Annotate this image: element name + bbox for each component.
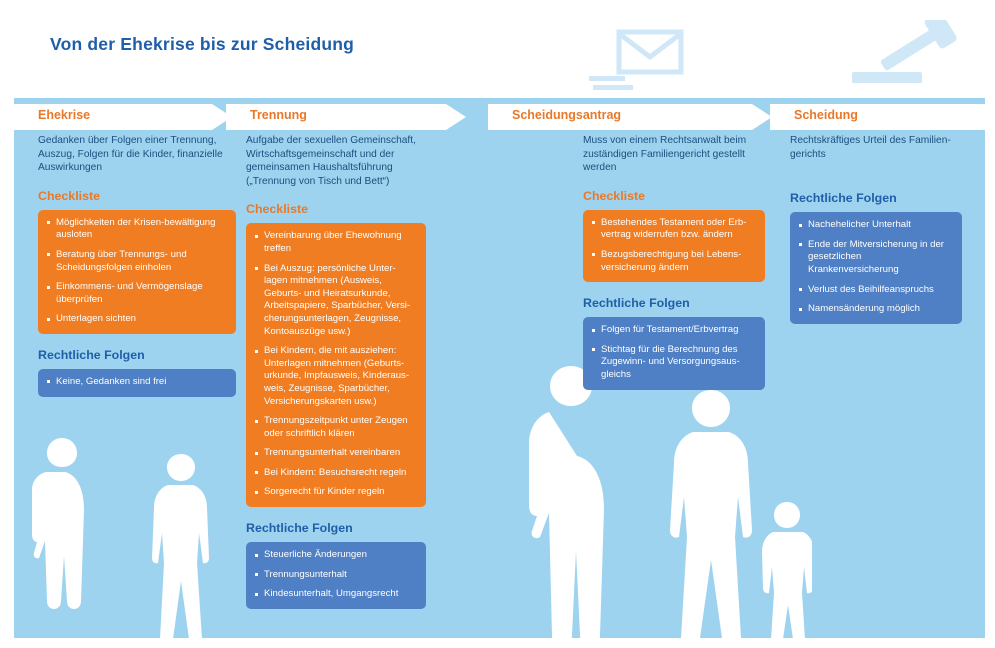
- list-item: Folgen für Testament/Erbvertrag: [592, 324, 756, 337]
- chevron-scheidung: Scheidung: [770, 104, 985, 130]
- silhouette-woman-center: [668, 390, 754, 644]
- list-item: Stichtag für die Berechnung des Zugewinn…: [592, 344, 756, 382]
- page-margin-top: [0, 0, 995, 8]
- column-intro-scheidungsantrag: Muss von einem Rechtsanwalt beim zuständ…: [583, 134, 765, 175]
- list-item: Sorgerecht für Kinder regeln: [255, 486, 417, 499]
- list-item: Steuerliche Änderungen: [255, 549, 417, 562]
- column-scheidung: Rechtskräftiges Urteil des Familien-geri…: [790, 134, 962, 324]
- checklist-box-ehekrise: Möglichkeiten der Krisen-bewältigung aus…: [38, 210, 236, 334]
- chevron-trennung: Trennung: [226, 104, 446, 130]
- list-item: Beratung über Trennungs- und Scheidungsf…: [47, 249, 227, 274]
- checklist-box-scheidungsantrag: Bestehendes Testament oder Erb-vertrag w…: [583, 210, 765, 282]
- section-title-folgen-scheidung: Rechtliche Folgen: [790, 191, 962, 205]
- page-title: Von der Ehekrise bis zur Scheidung: [50, 34, 354, 55]
- chevron-label-scheidung: Scheidung: [794, 108, 858, 122]
- list-item: Keine, Gedanken sind frei: [47, 376, 227, 389]
- section-title-checkliste-scheidungsantrag: Checkliste: [583, 189, 765, 203]
- silhouette-woman-left: [150, 454, 212, 644]
- section-title-checkliste-trennung: Checkliste: [246, 202, 426, 216]
- list-item: Ende der Mitversicherung in der gesetzli…: [799, 239, 953, 277]
- list-item: Bei Kindern: Besuchsrecht regeln: [255, 467, 417, 480]
- silhouette-man-left: [26, 438, 96, 643]
- folgen-box-scheidung: Nachehelicher Unterhalt Ende der Mitvers…: [790, 212, 962, 324]
- silhouette-child: [760, 502, 812, 644]
- column-scheidungsantrag: Muss von einem Rechtsanwalt beim zuständ…: [583, 134, 765, 390]
- chevron-ehekrise: Ehekrise: [14, 104, 212, 130]
- infographic-canvas: Von der Ehekrise bis zur Scheidung Ehekr…: [0, 0, 995, 648]
- list-item: Trennungszeitpunkt unter Zeugen oder sch…: [255, 415, 417, 440]
- list-item: Trennungsunterhalt: [255, 569, 417, 582]
- list-item: Namensänderung möglich: [799, 303, 953, 316]
- section-title-checkliste-ehekrise: Checkliste: [38, 189, 236, 203]
- page-margin-left: [0, 0, 14, 648]
- header-band: Von der Ehekrise bis zur Scheidung: [14, 8, 985, 98]
- list-item: Nachehelicher Unterhalt: [799, 219, 953, 232]
- folgen-box-trennung: Steuerliche Änderungen Trennungsunterhal…: [246, 542, 426, 609]
- checklist-box-trennung: Vereinbarung über Ehewohnung treffen Bei…: [246, 223, 426, 507]
- column-intro-trennung: Aufgabe der sexuellen Gemeinschaft, Wirt…: [246, 134, 426, 188]
- chevron-arrow: [752, 104, 772, 130]
- list-item: Möglichkeiten der Krisen-bewältigung aus…: [47, 217, 227, 242]
- list-item: Bestehendes Testament oder Erb-vertrag w…: [592, 217, 756, 242]
- silhouette-man-center: [525, 366, 615, 644]
- envelope-icon: [589, 26, 684, 96]
- column-ehekrise: Gedanken über Folgen einer Trennung, Aus…: [38, 134, 236, 397]
- list-item: Einkommens- und Vermögenslage überprüfen: [47, 281, 227, 306]
- page-margin-right: [985, 0, 995, 648]
- column-trennung: Aufgabe der sexuellen Gemeinschaft, Wirt…: [246, 134, 426, 609]
- column-intro-scheidung: Rechtskräftiges Urteil des Familien-geri…: [790, 134, 962, 161]
- chevron-label-scheidungsantrag: Scheidungsantrag: [512, 108, 621, 122]
- chevron-label-trennung: Trennung: [250, 108, 307, 122]
- folgen-box-ehekrise: Keine, Gedanken sind frei: [38, 369, 236, 397]
- list-item: Bezugsberechtigung bei Lebens-versicheru…: [592, 249, 756, 274]
- gavel-icon: [844, 20, 964, 100]
- section-title-folgen-trennung: Rechtliche Folgen: [246, 521, 426, 535]
- list-item: Vereinbarung über Ehewohnung treffen: [255, 230, 417, 255]
- list-item: Verlust des Beihilfeanspruchs: [799, 284, 953, 297]
- list-item: Kindesunterhalt, Umgangsrecht: [255, 588, 417, 601]
- folgen-box-scheidungsantrag: Folgen für Testament/Erbvertrag Stichtag…: [583, 317, 765, 389]
- chevron-arrow: [446, 104, 466, 130]
- column-intro-ehekrise: Gedanken über Folgen einer Trennung, Aus…: [38, 134, 236, 175]
- chevron-scheidungsantrag: Scheidungsantrag: [488, 104, 752, 130]
- list-item: Bei Kindern, die mit ausziehen: Unterlag…: [255, 345, 417, 408]
- section-title-folgen-scheidungsantrag: Rechtliche Folgen: [583, 296, 765, 310]
- list-item: Bei Auszug: persönliche Unter-lagen mitn…: [255, 263, 417, 339]
- chevron-label-ehekrise: Ehekrise: [38, 108, 90, 122]
- list-item: Trennungsunterhalt vereinbaren: [255, 447, 417, 460]
- section-title-folgen-ehekrise: Rechtliche Folgen: [38, 348, 236, 362]
- list-item: Unterlagen sichten: [47, 313, 227, 326]
- page-margin-bottom: [0, 638, 995, 648]
